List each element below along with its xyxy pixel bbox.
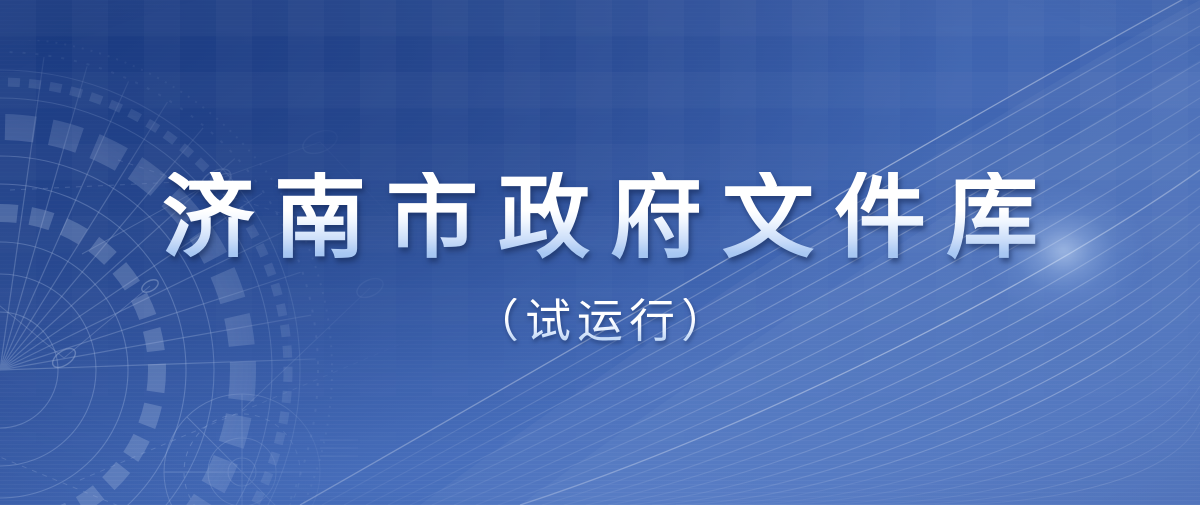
banner-text-block: 济南市政府文件库 （试运行）	[0, 0, 1200, 505]
page-title: 济南市政府文件库	[142, 172, 1058, 264]
site-banner: 济南市政府文件库 （试运行）	[0, 0, 1200, 505]
page-subtitle: （试运行）	[467, 298, 733, 344]
